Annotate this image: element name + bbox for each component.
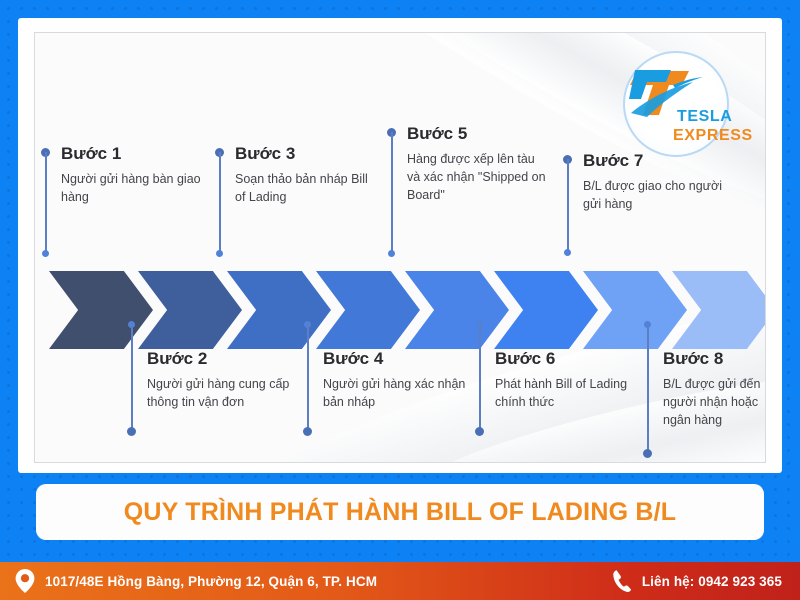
step-description: B/L được giao cho người gửi hàng [583, 177, 725, 213]
contact-bar: 1017/48E Hồng Bàng, Phường 12, Quận 6, T… [0, 562, 800, 600]
address-text: 1017/48E Hồng Bàng, Phường 12, Quận 6, T… [45, 574, 377, 589]
address-group: 1017/48E Hồng Bàng, Phường 12, Quận 6, T… [14, 568, 377, 594]
logo-text-secondary: EXPRESS [673, 128, 753, 144]
process-arrow-3 [227, 271, 331, 349]
process-arrow-2 [138, 271, 242, 349]
step-description: Người gửi hàng xác nhận bản nháp [323, 375, 471, 411]
step-description: Phát hành Bill of Lading chính thức [495, 375, 635, 411]
process-arrow-7 [583, 271, 687, 349]
outer-frame: TESLA EXPRESS Bước 1 Người gửi hàng bàn … [0, 0, 800, 600]
step-title: Bước 8 [663, 349, 723, 369]
step-title: Bước 4 [323, 349, 383, 369]
process-arrow-6 [494, 271, 598, 349]
step-description: Người gửi hàng cung cấp thông tin vận đơ… [147, 375, 299, 411]
step-title: Bước 1 [61, 144, 121, 164]
phone-group[interactable]: Liên hệ: 0942 923 365 [612, 569, 782, 593]
step-title: Bước 7 [583, 151, 643, 171]
logo-text-primary: TESLA [677, 109, 732, 125]
brand-logo: TESLA EXPRESS [615, 49, 747, 161]
step-title: Bước 6 [495, 349, 555, 369]
step-description: Hàng được xếp lên tàu và xác nhận "Shipp… [407, 150, 547, 204]
page-title: QUY TRÌNH PHÁT HÀNH BILL OF LADING B/L [124, 498, 677, 527]
infographic-panel: TESLA EXPRESS Bước 1 Người gửi hàng bàn … [18, 18, 782, 473]
step-title: Bước 5 [407, 124, 467, 144]
process-arrow-1 [49, 271, 153, 349]
process-arrow-5 [405, 271, 509, 349]
location-pin-icon [14, 568, 36, 594]
phone-icon [612, 569, 632, 593]
phone-text: Liên hệ: 0942 923 365 [642, 574, 782, 589]
title-banner: QUY TRÌNH PHÁT HÀNH BILL OF LADING B/L [36, 484, 764, 540]
step-description: B/L được gửi đến người nhận hoặc ngân hà… [663, 375, 766, 429]
step-description: Người gửi hàng bàn giao hàng [61, 170, 211, 206]
step-title: Bước 2 [147, 349, 207, 369]
step-description: Soạn thảo bản nháp Bill of Lading [235, 170, 380, 206]
process-arrow-4 [316, 271, 420, 349]
step-title: Bước 3 [235, 144, 295, 164]
process-arrow-band [49, 271, 766, 349]
infographic-canvas: TESLA EXPRESS Bước 1 Người gửi hàng bàn … [34, 32, 766, 463]
